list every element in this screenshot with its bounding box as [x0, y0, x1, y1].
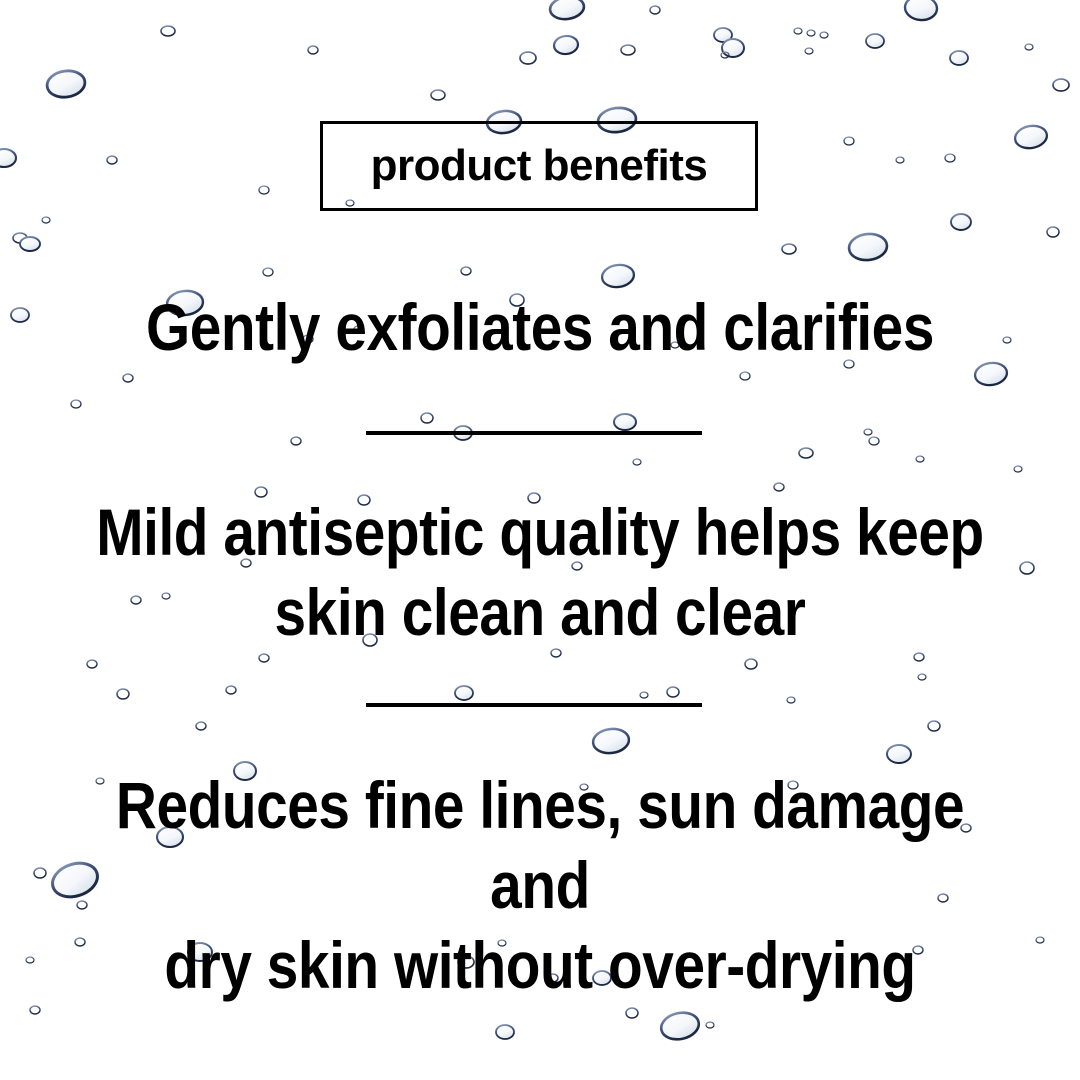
divider-2 [366, 703, 702, 707]
benefit-item-2: Mild antiseptic quality helps keep skin … [76, 492, 1005, 652]
page-title: product benefits [371, 144, 708, 188]
benefit-item-3: Reduces fine lines, sun damage and dry s… [76, 765, 1005, 1005]
section-header-box: product benefits [320, 121, 758, 211]
benefit-item-1: Gently exfoliates and clarifies [76, 287, 1005, 367]
product-benefits-graphic: product benefits Gently exfoliates and c… [0, 0, 1080, 1080]
divider-1 [366, 431, 702, 435]
